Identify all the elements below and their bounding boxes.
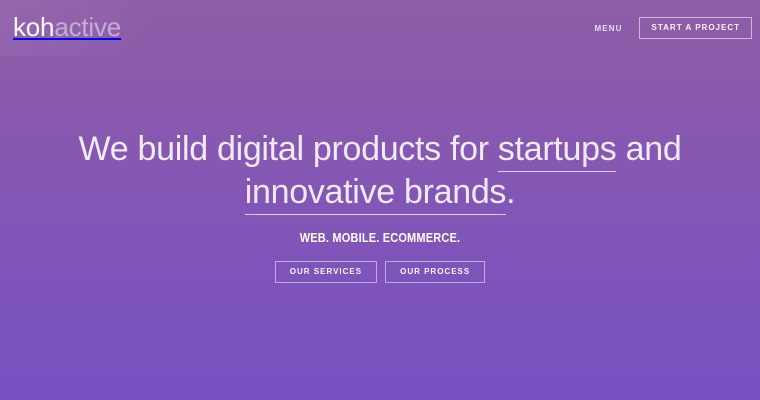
hero-headline: We build digital products for startups a… bbox=[0, 128, 760, 214]
headline-link-innovative-brands[interactable]: innovative brands bbox=[245, 173, 506, 215]
hero-content: We build digital products for startups a… bbox=[0, 128, 760, 283]
headline-line1-post: and bbox=[616, 130, 681, 168]
hero-cta-row: OUR SERVICES OUR PROCESS bbox=[0, 261, 760, 283]
hero-section: kohactive MENU START A PROJECT We build … bbox=[0, 0, 760, 400]
our-process-button[interactable]: OUR PROCESS bbox=[385, 261, 485, 283]
start-a-project-button[interactable]: START A PROJECT bbox=[639, 17, 752, 39]
logo-text-secondary: active bbox=[54, 14, 121, 40]
header-nav: MENU START A PROJECT bbox=[593, 17, 752, 39]
logo-text-primary: koh bbox=[13, 14, 54, 40]
site-header: kohactive MENU START A PROJECT bbox=[0, 0, 760, 56]
menu-toggle[interactable]: MENU bbox=[593, 20, 625, 37]
headline-link-startups[interactable]: startups bbox=[498, 130, 617, 172]
site-logo[interactable]: kohactive bbox=[13, 14, 121, 40]
headline-line1-pre: We build digital products for bbox=[79, 130, 498, 168]
headline-line2-post: . bbox=[506, 173, 515, 211]
hero-subheadline: WEB. MOBILE. ECOMMERCE. bbox=[46, 231, 715, 245]
our-services-button[interactable]: OUR SERVICES bbox=[275, 261, 377, 283]
